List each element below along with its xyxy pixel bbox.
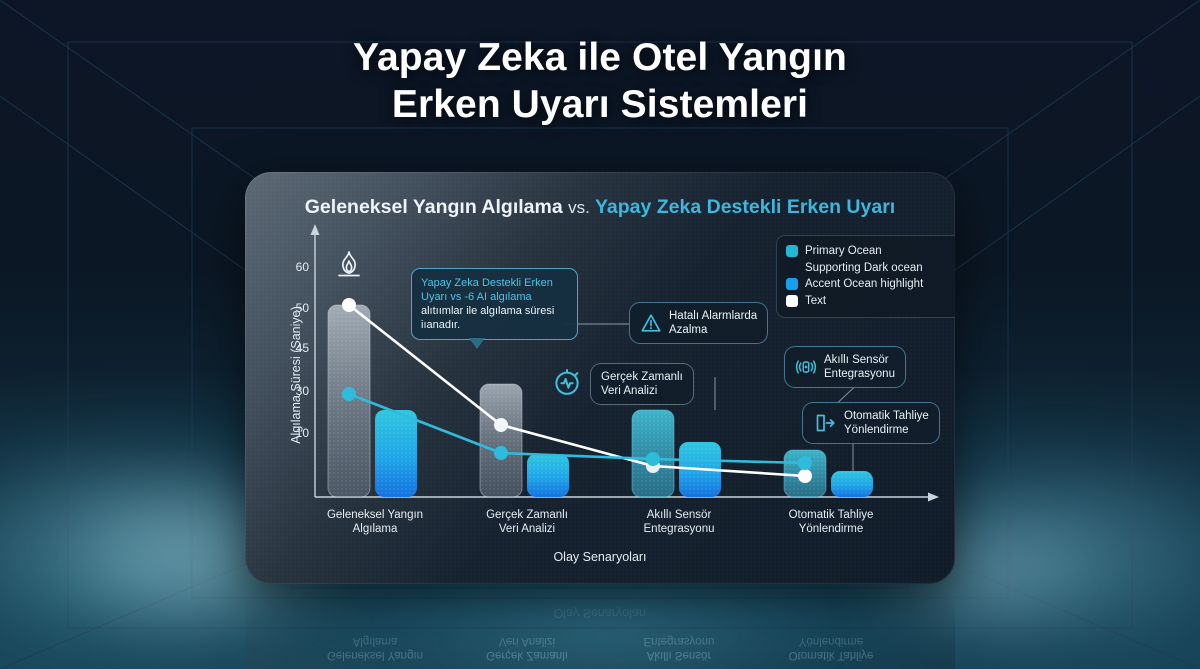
x-tick-label: Otomatik TahliyeYönlendirme (748, 508, 914, 536)
plot-area: 60 50 45 30 10 Geleneksel YangınAlgılama… (245, 172, 955, 584)
badge-label: Hatalı AlarmlardaAzalma (669, 309, 757, 337)
callout-white-text: alıtıımlar ile algılama süresi iıanadır. (421, 305, 554, 331)
legend-item: Text (786, 293, 951, 310)
legend-swatch (786, 262, 798, 274)
flame-icon (339, 252, 359, 276)
callout-cyan-text: Yapay Zeka Destekli Erken Uyarı vs -6 AI… (421, 277, 553, 303)
legend-label: Supporting Dark ocean (805, 262, 923, 274)
card-reflection: Olay Senaryoları Geleneksel YangınAlgıla… (245, 586, 955, 669)
feature-badge-realtime-analysis[interactable]: Gerçek ZamanlıVeri Analizi (590, 363, 694, 405)
exit-door-icon (813, 411, 837, 435)
page-title-line1: Yapay Zeka ile Otel Yangın (0, 34, 1200, 81)
legend-swatch (786, 245, 798, 257)
x-axis-arrow (928, 493, 939, 502)
y-tick: 60 (283, 260, 309, 274)
bar-group-1 (328, 305, 417, 497)
legend-label: Accent Ocean highlight (805, 278, 923, 290)
y-axis-title: Algılama Süresi (Saniye) (289, 280, 303, 470)
ai-callout-tooltip: Yapay Zeka Destekli Erken Uyarı vs -6 AI… (411, 268, 578, 340)
legend-label: Text (805, 295, 826, 307)
legend-label: Primary Ocean (805, 245, 882, 257)
feature-badge-false-alarms[interactable]: Hatalı AlarmlardaAzalma (629, 302, 768, 344)
x-tick-label: Akıllı SensörEntegrasyonu (596, 508, 762, 536)
stopwatch-pulse-icon (552, 367, 582, 397)
badge-label: Gerçek ZamanlıVeri Analizi (601, 370, 683, 398)
x-tick-label: Gerçek ZamanlıVeri Analizi (444, 508, 610, 536)
legend-swatch (786, 295, 798, 307)
smart-sensor-icon (795, 356, 817, 378)
chart-card: Geleneksel Yangın Algılama vs. Yapay Zek… (245, 172, 955, 584)
warning-triangle-icon (640, 312, 662, 334)
bar-group-3 (632, 410, 721, 497)
page-title: Yapay Zeka ile Otel Yangın Erken Uyarı S… (0, 34, 1200, 128)
chart-legend: Primary Ocean Supporting Dark ocean Acce… (776, 235, 955, 318)
y-axis-arrow (311, 224, 320, 235)
x-tick-label: Geleneksel YangınAlgılama (292, 508, 458, 536)
infographic-stage: Yapay Zeka ile Otel Yangın Erken Uyarı S… (0, 0, 1200, 669)
legend-item: Accent Ocean highlight (786, 276, 951, 293)
legend-item: Supporting Dark ocean (786, 260, 951, 277)
page-title-line2: Erken Uyarı Sistemleri (0, 81, 1200, 128)
legend-item: Primary Ocean (786, 243, 951, 260)
legend-swatch (786, 278, 798, 290)
feature-badge-smart-sensor[interactable]: Akıllı SensörEntegrasyonu (784, 346, 906, 388)
badge-label: Akıllı SensörEntegrasyonu (824, 353, 895, 381)
x-axis-title: Olay Senaryoları (245, 550, 955, 564)
bar-group-4 (784, 450, 873, 497)
badge-label: Otomatik TahliyeYönlendirme (844, 409, 929, 437)
feature-badge-auto-evacuation[interactable]: Otomatik TahliyeYönlendirme (802, 402, 940, 444)
